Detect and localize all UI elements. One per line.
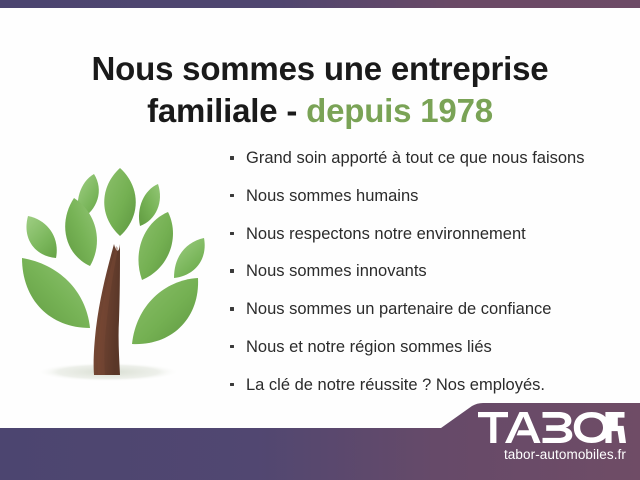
- bullet-dot-icon: [230, 383, 234, 387]
- list-item-label: Nous sommes humains: [246, 187, 418, 205]
- bullet-dot-icon: [230, 156, 234, 160]
- heading-line-1: Nous sommes une entreprise: [92, 50, 549, 87]
- page-title: Nous sommes une entreprise familiale -de…: [0, 48, 640, 132]
- tree-illustration: [8, 150, 223, 395]
- brand-logo: tabor-automobiles.fr: [478, 412, 626, 462]
- tree-leaf: [174, 238, 205, 278]
- heading-accent-text: depuis 1978: [306, 92, 493, 129]
- list-item: Nous respectons notre environnement: [228, 224, 628, 246]
- heading-line-2-prefix: familiale -: [147, 92, 297, 129]
- tree-leaf: [22, 258, 90, 328]
- tree-leaf: [132, 278, 198, 344]
- list-item: Nous sommes innovants: [228, 261, 628, 283]
- tree-leaf: [26, 216, 56, 258]
- benefits-list: Grand soin apporté à tout ce que nous fa…: [228, 148, 628, 412]
- bullet-dot-icon: [230, 307, 234, 311]
- list-item: La clé de notre réussite ? Nos employés.: [228, 375, 628, 397]
- list-item: Nous sommes un partenaire de confiance: [228, 299, 628, 321]
- list-item: Grand soin apporté à tout ce que nous fa…: [228, 148, 628, 170]
- brand-url-label: tabor-automobiles.fr: [478, 448, 626, 462]
- tabor-wordmark-icon: [478, 412, 626, 444]
- list-item-label: Grand soin apporté à tout ce que nous fa…: [246, 149, 584, 167]
- list-item: Nous et notre région sommes liés: [228, 337, 628, 359]
- slide-canvas: Nous sommes une entreprise familiale -de…: [0, 0, 640, 480]
- bullet-dot-icon: [230, 194, 234, 198]
- list-item-label: Nous respectons notre environnement: [246, 225, 526, 243]
- bullet-dot-icon: [230, 269, 234, 273]
- list-item-label: Nous et notre région sommes liés: [246, 338, 492, 356]
- list-item-label: Nous sommes innovants: [246, 262, 427, 280]
- list-item-label: Nous sommes un partenaire de confiance: [246, 300, 551, 318]
- top-accent-strip: [0, 0, 640, 8]
- bullet-dot-icon: [230, 232, 234, 236]
- list-item: Nous sommes humains: [228, 186, 628, 208]
- list-item-label: La clé de notre réussite ? Nos employés.: [246, 376, 545, 394]
- bullet-dot-icon: [230, 345, 234, 349]
- tree-leaf: [104, 168, 136, 236]
- heading-line-2: familiale -depuis 1978: [0, 90, 640, 132]
